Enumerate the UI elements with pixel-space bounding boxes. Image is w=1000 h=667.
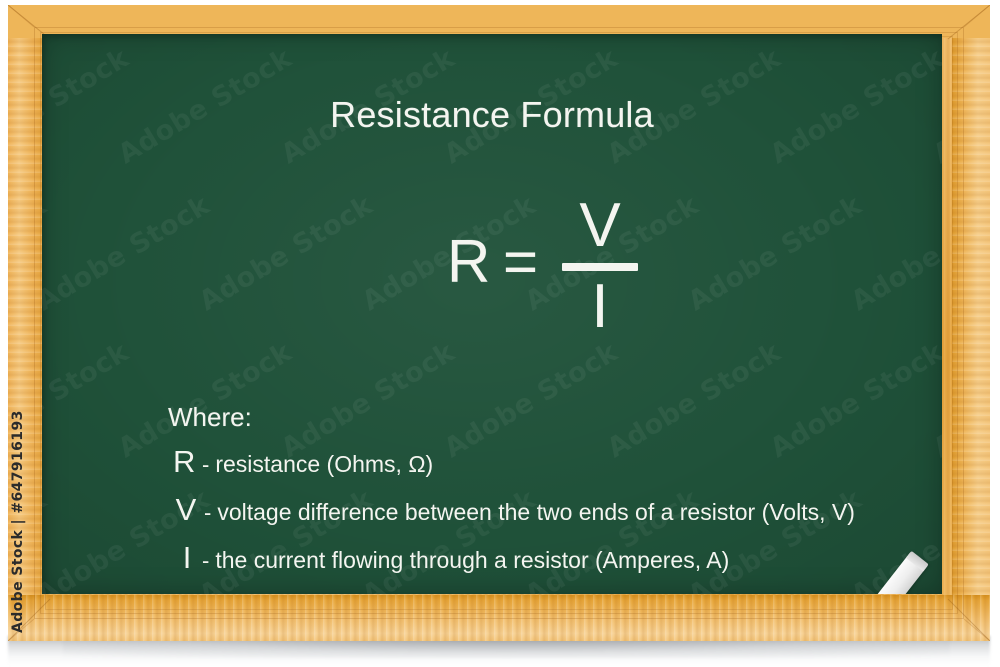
watermark-text: Adobe Stock	[42, 190, 215, 318]
resistance-formula: R = V I	[400, 194, 700, 354]
legend-description-v: voltage difference between the two ends …	[217, 499, 855, 526]
formula-numerator: V	[560, 194, 640, 257]
illustration-canvas: Adobe StockAdobe StockAdobe StockAdobe S…	[0, 0, 1000, 667]
legend-description-r: resistance (Ohms, Ω)	[215, 451, 433, 478]
watermark-text: Adobe Stock	[42, 484, 52, 594]
where-label: Where:	[168, 402, 252, 433]
watermark-text: Adobe Stock	[846, 190, 942, 318]
legend-item-resistance: R - resistance (Ohms, Ω)	[173, 444, 433, 480]
watermark-text: Adobe Stock	[765, 337, 942, 465]
legend-item-voltage: V - voltage difference between the two e…	[175, 492, 855, 528]
watermark-text: Adobe Stock	[928, 337, 942, 465]
legend-dash-i: -	[202, 548, 209, 574]
formula-denominator: I	[560, 275, 640, 338]
legend-item-current: I - the current flowing through a resist…	[179, 540, 729, 576]
legend-description-i: the current flowing through a resistor (…	[215, 547, 729, 574]
legend-symbol-r: R	[173, 444, 195, 480]
watermark-text: Adobe Stock	[42, 190, 52, 318]
chalk-stick-tilted	[873, 552, 929, 594]
watermark-text: Adobe Stock	[194, 190, 378, 318]
legend-symbol-v: V	[175, 492, 197, 528]
formula-lhs-symbol: R	[447, 232, 490, 292]
page-title: Resistance Formula	[42, 94, 942, 136]
watermark-text: Adobe Stock	[683, 190, 867, 318]
legend-dash-r: -	[202, 452, 209, 478]
watermark-text: Adobe Stock	[439, 337, 623, 465]
formula-fraction: V I	[560, 194, 640, 338]
formula-equals-sign: =	[503, 232, 538, 292]
legend-dash-v: -	[204, 500, 211, 526]
legend-symbol-i: I	[179, 540, 195, 576]
watermark-text: Adobe Stock	[602, 337, 786, 465]
watermark-text: Adobe Stock	[42, 337, 134, 465]
chalkboard-surface: Adobe StockAdobe StockAdobe StockAdobe S…	[42, 34, 942, 594]
formula-fraction-bar	[562, 263, 638, 271]
